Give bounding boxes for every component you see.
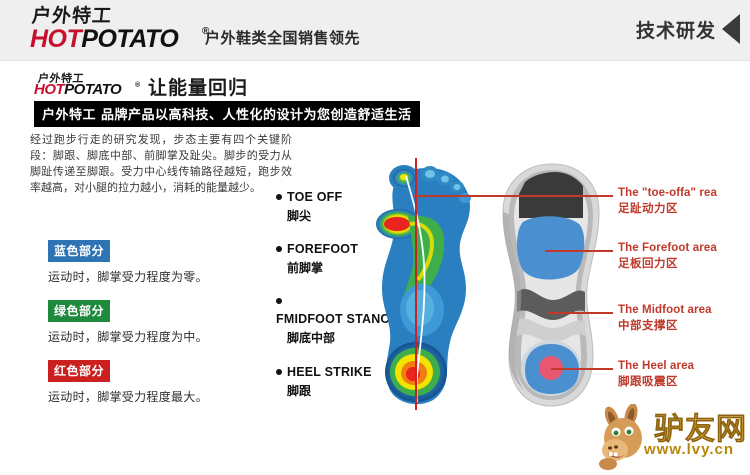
insole-label-forefoot: The Forefoot area 足板回力区: [618, 242, 717, 271]
insole-label-toe-off-en: The "toe-offa" rea: [618, 187, 717, 199]
leader-line-heel: [551, 368, 613, 370]
legend-item-green: 绿色部分 运动时，脚掌受力程度为中。: [48, 300, 263, 345]
gait-label-forefoot-en: FOREFOOT: [287, 242, 358, 256]
top-header-bar: 户外特工 HOTPOTATO ® 户外鞋类全国销售领先 技术研发: [0, 0, 750, 61]
gait-label-heel-strike-en: HEEL STRIKE: [287, 365, 372, 379]
gait-label-forefoot: FOREFOOT 前脚掌: [276, 240, 358, 276]
insole-svg: [495, 160, 610, 410]
brand-logo[interactable]: 户外特工 HOTPOTATO ®: [30, 6, 210, 54]
brand-potato-text: POTATO: [81, 25, 178, 53]
pressure-legend: 蓝色部分 运动时，脚掌受力程度为零。 绿色部分 运动时，脚掌受力程度为中。 红色…: [48, 240, 263, 420]
gait-label-toe-off: TOE OFF 脚尖: [276, 188, 342, 224]
gait-label-heel-strike-cn: 脚跟: [287, 382, 372, 399]
donkey-mascot-icon: [598, 404, 660, 470]
insole-label-toe-off-cn: 足趾动力区: [618, 200, 717, 216]
insole-label-midfoot-cn: 中部支撑区: [618, 317, 712, 333]
sub-header-title: 让能量回归: [148, 73, 248, 100]
leader-line-forefoot: [545, 250, 613, 252]
insole-label-midfoot: The Midfoot area 中部支撑区: [618, 304, 712, 333]
bullet-dot-icon: [276, 369, 282, 375]
sub-brand-potato-text: POTATO: [64, 81, 121, 98]
insole-label-forefoot-en: The Forefoot area: [618, 242, 717, 254]
insole-label-heel-en: The Heel area: [618, 360, 694, 372]
page-root: 户外特工 HOTPOTATO ® 户外鞋类全国销售领先 技术研发 户外特工 HO…: [0, 0, 750, 475]
insole-label-forefoot-cn: 足板回力区: [618, 255, 717, 271]
insole-diagram: [495, 160, 610, 410]
site-watermark[interactable]: 驴友网 www.lvy.cn: [598, 400, 750, 472]
bullet-dot-icon: [276, 298, 282, 304]
gait-label-forefoot-cn: 前脚掌: [287, 259, 358, 276]
legend-badge-green: 绿色部分: [48, 300, 110, 322]
legend-badge-red: 红色部分: [48, 360, 110, 382]
gait-label-toe-off-en: TOE OFF: [287, 190, 342, 204]
section-title-group: 技术研发: [636, 14, 740, 44]
watermark-url: www.lvy.cn: [644, 441, 734, 458]
brand-hot-text: HOT: [30, 25, 81, 53]
leader-line-midfoot: [548, 312, 613, 314]
insole-forefoot-zone: [517, 216, 584, 279]
insole-label-heel-cn: 脚跟吸震区: [618, 373, 694, 389]
legend-item-red: 红色部分 运动时，脚掌受力程度最大。: [48, 360, 263, 405]
insole-label-heel: The Heel area 脚跟吸震区: [618, 360, 694, 389]
insole-label-toe-off: The "toe-offa" rea 足趾动力区: [618, 187, 717, 216]
brand-tagline: 户外鞋类全国销售领先: [205, 27, 360, 48]
slogan-bar: 户外特工 品牌产品以高科技、人性化的设计为您创造舒适生活: [34, 101, 420, 127]
section-title: 技术研发: [636, 16, 716, 43]
leader-line-toe-off: [413, 195, 613, 197]
sub-brand-hot-text: HOT: [34, 81, 64, 98]
sub-registered-mark-icon: ®: [135, 82, 140, 89]
legend-item-blue: 蓝色部分 运动时，脚掌受力程度为零。: [48, 240, 263, 285]
legend-desc-red: 运动时，脚掌受力程度最大。: [48, 388, 263, 405]
legend-desc-green: 运动时，脚掌受力程度为中。: [48, 328, 263, 345]
gait-label-heel-strike: HEEL STRIKE 脚跟: [276, 363, 372, 399]
intro-paragraph: 经过跑步行走的研究发现，步态主要有四个关键阶段：脚跟、脚底中部、前脚掌及趾尖。脚…: [30, 132, 292, 196]
insole-label-midfoot-en: The Midfoot area: [618, 304, 712, 316]
gait-label-toe-off-cn: 脚尖: [287, 207, 342, 224]
brand-name-cn: 户外特工: [31, 6, 113, 26]
bullet-dot-icon: [276, 246, 282, 252]
foot-pressure-svg: [370, 160, 500, 410]
bullet-dot-icon: [276, 194, 282, 200]
triangle-left-icon: [722, 14, 740, 44]
foot-pressure-map: [370, 160, 500, 410]
legend-badge-blue: 蓝色部分: [48, 240, 110, 262]
legend-desc-blue: 运动时，脚掌受力程度为零。: [48, 268, 263, 285]
sub-brand-logo: 户外特工 HOTPOTATO ®: [34, 72, 154, 102]
sub-brand-name-en: HOTPOTATO: [34, 81, 121, 98]
brand-name-en: HOTPOTATO: [30, 26, 178, 52]
